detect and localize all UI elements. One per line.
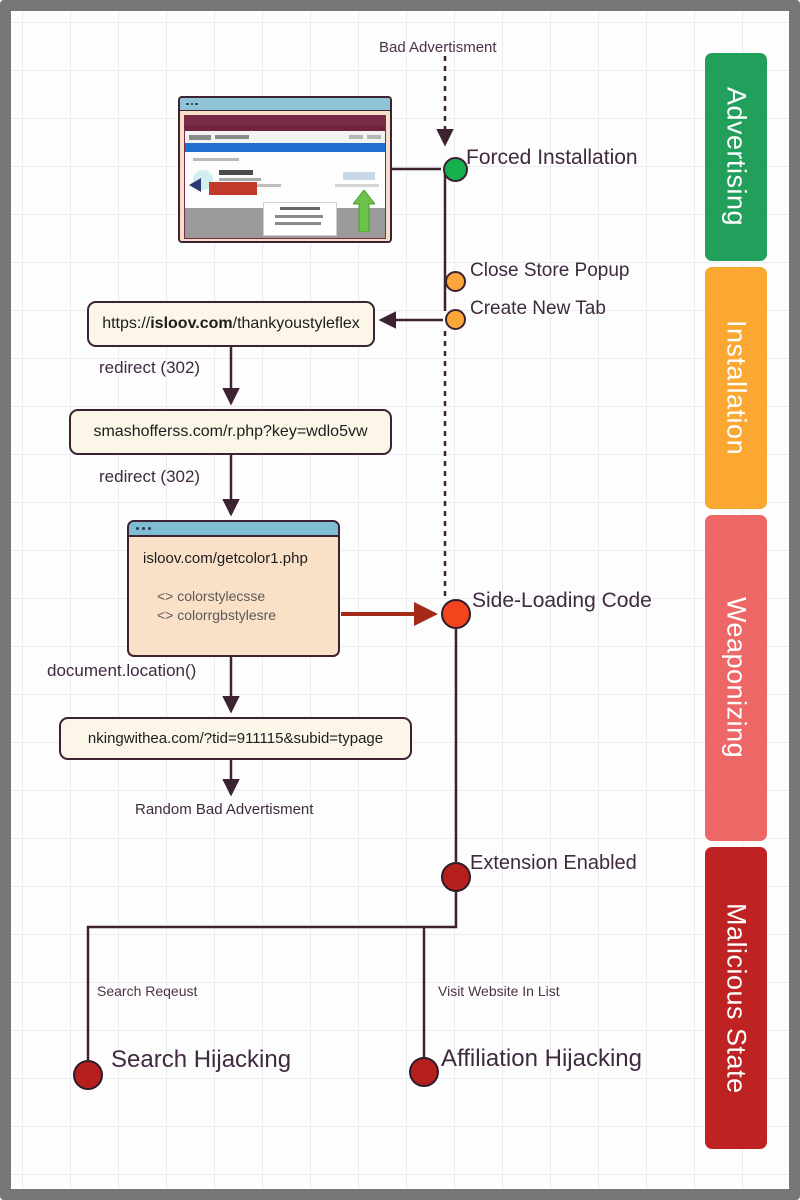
mock-nav-link (349, 135, 363, 139)
url-box-isloov: https://isloov.com/thankyoustyleflex (87, 301, 375, 347)
code-window-file-list: <> colorstylecsse <> colorrgbstylesre (157, 587, 338, 625)
phase-label: Malicious State (721, 903, 752, 1094)
node-label-extension-enabled: Extension Enabled (470, 852, 637, 875)
window-dot-icon (136, 527, 139, 530)
mock-subtext (335, 184, 379, 187)
code-window-titlebar (129, 522, 338, 537)
mock-breadcrumb (193, 158, 239, 161)
mock-instruction-note (263, 202, 337, 236)
phase-bar-weaponizing: Weaponizing (705, 515, 767, 841)
node-label-affiliation-hijacking: Affiliation Hijacking (441, 1045, 642, 1073)
code-window-url: isloov.com/getcolor1.php (143, 550, 338, 567)
label-redirect-1: redirect (302) (99, 358, 200, 378)
node-label-search-hijacking: Search Hijacking (111, 1046, 291, 1074)
mock-extension-publisher (219, 178, 261, 181)
url-box-nkingwithea: nkingwithea.com/?tid=911115&subid=typage (59, 717, 412, 760)
mock-microsoft-logo (189, 135, 211, 140)
url-domain: isloov.com (150, 315, 232, 333)
code-marker-icon: <> (157, 607, 173, 623)
edge-extension-to-search (88, 892, 456, 1060)
mock-store-nav (185, 131, 385, 143)
mock-body (180, 111, 390, 243)
node-forced-installation[interactable] (443, 157, 468, 182)
label-document-location: document.location() (47, 661, 196, 681)
mock-store-title (215, 135, 249, 139)
window-dot-icon (142, 527, 145, 530)
mock-titlebar (180, 98, 390, 111)
diagram-canvas: Bad Advertisment (0, 0, 800, 1200)
node-label-close-store-popup: Close Store Popup (470, 260, 630, 282)
mock-extension-name (219, 170, 253, 175)
label-redirect-2: redirect (302) (99, 467, 200, 487)
code-file-name: colorstylecsse (177, 588, 265, 604)
label-random-bad-advertisment: Random Bad Advertisment (135, 801, 313, 818)
phase-label: Installation (721, 320, 752, 455)
node-close-store-popup[interactable] (445, 271, 466, 292)
label-bad-advertisment: Bad Advertisment (379, 39, 497, 56)
node-label-side-loading-code: Side-Loading Code (472, 589, 652, 613)
browser-screenshot-mock (178, 96, 392, 243)
blue-arrow-icon (189, 178, 201, 192)
node-affiliation-hijacking[interactable] (409, 1057, 439, 1087)
node-side-loading-code[interactable] (441, 599, 471, 629)
phase-label: Advertising (721, 87, 752, 226)
code-window-getcolor: isloov.com/getcolor1.php <> colorstylecs… (127, 520, 340, 657)
note-line (275, 215, 323, 218)
node-search-hijacking[interactable] (73, 1060, 103, 1090)
mock-blue-banner (185, 143, 385, 152)
node-label-forced-installation: Forced Installation (466, 146, 638, 170)
phase-bar-advertising: Advertising (705, 53, 767, 261)
mock-nav-right (349, 135, 381, 139)
url-path: /thankyoustyleflex (233, 315, 360, 333)
mock-browser-chrome (185, 116, 385, 125)
green-arrow-icon (353, 190, 375, 232)
code-file-name: colorrgbstylesre (177, 607, 276, 623)
note-line (280, 207, 320, 210)
window-dot-icon (195, 103, 198, 106)
mock-red-highlight (209, 182, 257, 195)
phase-bar-malicious-state: Malicious State (705, 847, 767, 1149)
code-marker-icon: <> (157, 588, 173, 604)
note-line (275, 222, 321, 225)
code-file-item: <> colorstylecsse (157, 587, 338, 606)
mock-get-button (343, 172, 375, 180)
window-dot-icon (186, 103, 189, 106)
window-dot-icon (191, 103, 194, 106)
code-file-item: <> colorrgbstylesre (157, 606, 338, 625)
phase-bar-installation: Installation (705, 267, 767, 509)
mock-page (184, 115, 386, 239)
mock-nav-link (367, 135, 381, 139)
node-extension-enabled[interactable] (441, 862, 471, 892)
node-label-create-new-tab: Create New Tab (470, 298, 606, 320)
label-search-request: Search Reqeust (97, 983, 197, 999)
url-prefix: https:// (102, 315, 150, 333)
phase-label: Weaponizing (721, 597, 752, 758)
label-visit-website: Visit Website In List (438, 983, 560, 999)
node-create-new-tab[interactable] (445, 309, 466, 330)
url-box-smashofferss: smashofferss.com/r.php?key=wdlo5vw (69, 409, 392, 455)
window-dot-icon (148, 527, 151, 530)
